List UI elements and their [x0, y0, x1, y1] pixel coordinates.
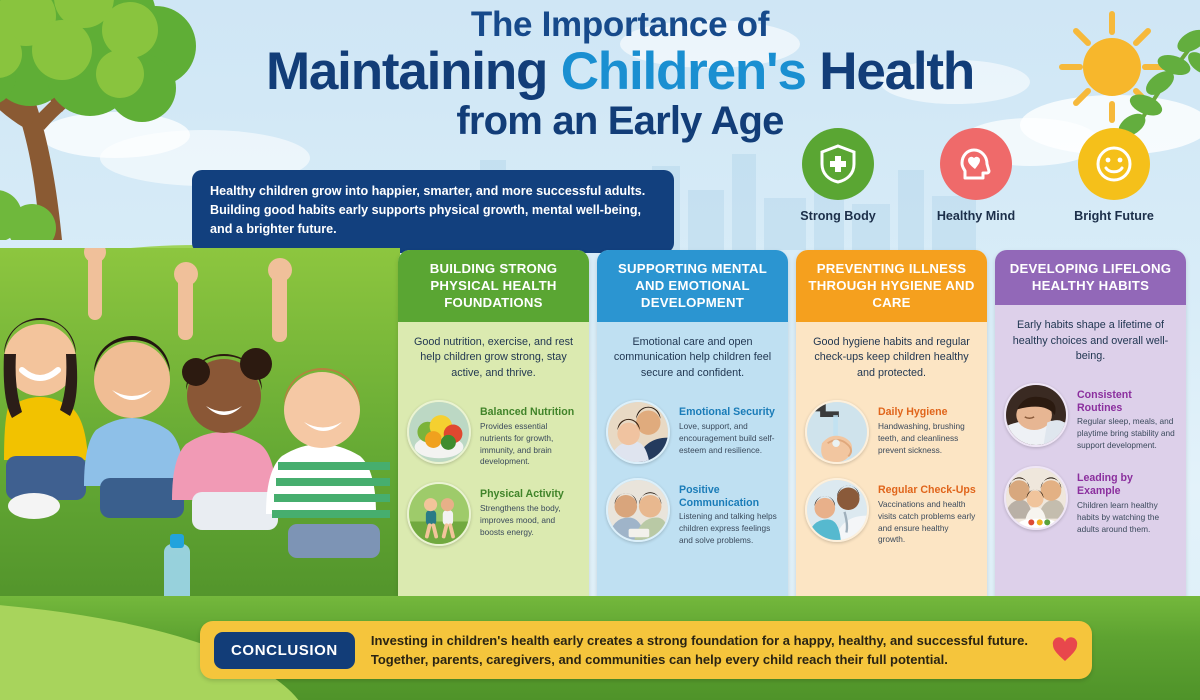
- smiley-face-icon: [1093, 143, 1135, 185]
- list-item-desc: Vaccinations and health visits catch pro…: [878, 499, 976, 547]
- list-item-desc: Listening and talking helps children exp…: [679, 511, 777, 547]
- list-item-title: Positive Communication: [679, 484, 777, 509]
- badge-label-bright-future: Bright Future: [1062, 209, 1166, 223]
- list-item-title: Daily Hygiene: [878, 406, 976, 419]
- card-hygiene-care[interactable]: PREVENTING ILLNESS THROUGH HYGIENE AND C…: [796, 250, 987, 608]
- list-item-title: Physical Activity: [480, 488, 578, 501]
- title-line-1: The Importance of: [205, 6, 1035, 44]
- list-item[interactable]: Positive Communication Listening and tal…: [597, 472, 788, 555]
- list-item[interactable]: Leading by Example Children learn health…: [995, 460, 1186, 543]
- list-item-title: Consistent Routines: [1077, 389, 1175, 414]
- list-item[interactable]: Balanced Nutrition Provides essential nu…: [398, 394, 589, 476]
- infographic-poster: The Importance of Maintaining Children's…: [0, 0, 1200, 700]
- list-item-title: Leading by Example: [1077, 472, 1175, 497]
- list-item[interactable]: Emotional Security Love, support, and en…: [597, 394, 788, 472]
- intro-text: Healthy children grow into happier, smar…: [210, 184, 645, 236]
- card-mental-emotional[interactable]: SUPPORTING MENTAL AND EMOTIONAL DEVELOPM…: [597, 250, 788, 608]
- card-intro-hygiene-care: Good hygiene habits and regular check-up…: [796, 322, 987, 394]
- list-item-text: Consistent Routines Regular sleep, meals…: [1077, 383, 1175, 452]
- shield-plus-icon: [819, 144, 857, 184]
- list-item[interactable]: Regular Check-Ups Vaccinations and healt…: [796, 472, 987, 554]
- list-item-text: Physical Activity Strengthens the body, …: [480, 482, 578, 539]
- title-line-2-highlight: Children's: [561, 42, 806, 101]
- badge-strong-body[interactable]: Strong Body: [786, 128, 890, 223]
- children-running-photo: [407, 482, 471, 546]
- page-title: The Importance of Maintaining Children's…: [205, 6, 1035, 143]
- card-intro-lifelong-habits: Early habits shape a lifetime of healthy…: [995, 305, 1186, 377]
- list-item-desc: Regular sleep, meals, and playtime bring…: [1077, 416, 1175, 452]
- title-line-2-part-a: Maintaining: [266, 42, 561, 101]
- list-item-title: Balanced Nutrition: [480, 406, 578, 419]
- pillar-card-row: BUILDING STRONG PHYSICAL HEALTH FOUNDATI…: [398, 250, 1186, 608]
- list-item-text: Leading by Example Children learn health…: [1077, 466, 1175, 535]
- heart-icon: [1052, 637, 1078, 663]
- card-lifelong-habits[interactable]: DEVELOPING LIFELONG HEALTHY HABITS Early…: [995, 250, 1186, 608]
- list-item-desc: Provides essential nutrients for growth,…: [480, 421, 578, 469]
- card-header-physical-health: BUILDING STRONG PHYSICAL HEALTH FOUNDATI…: [398, 250, 589, 322]
- card-intro-mental-emotional: Emotional care and open communication he…: [597, 322, 788, 394]
- badge-label-strong-body: Strong Body: [786, 209, 890, 223]
- card-header-hygiene-care: PREVENTING ILLNESS THROUGH HYGIENE AND C…: [796, 250, 987, 322]
- list-item-text: Daily Hygiene Handwashing, brushing teet…: [878, 400, 976, 457]
- list-item-text: Emotional Security Love, support, and en…: [679, 400, 777, 457]
- handwashing-photo: [805, 400, 869, 464]
- list-item-desc: Handwashing, brushing teeth, and cleanli…: [878, 421, 976, 457]
- title-line-2-part-b: Health: [806, 42, 974, 101]
- tree-illustration: [0, 0, 200, 240]
- head-heart-icon: [956, 144, 996, 184]
- list-item[interactable]: Physical Activity Strengthens the body, …: [398, 476, 589, 554]
- conclusion-text: Investing in children's health early cre…: [371, 631, 1036, 669]
- card-header-mental-emotional: SUPPORTING MENTAL AND EMOTIONAL DEVELOPM…: [597, 250, 788, 322]
- list-item-text: Positive Communication Listening and tal…: [679, 478, 777, 547]
- intro-callout: Healthy children grow into happier, smar…: [192, 170, 674, 253]
- list-item-title: Regular Check-Ups: [878, 484, 976, 497]
- badge-bright-future[interactable]: Bright Future: [1062, 128, 1166, 223]
- conclusion-badge: CONCLUSION: [214, 632, 355, 669]
- badge-circle-bright-future: [1078, 128, 1150, 200]
- badge-circle-strong-body: [802, 128, 874, 200]
- list-item-desc: Children learn healthy habits by watchin…: [1077, 500, 1175, 536]
- list-item-text: Regular Check-Ups Vaccinations and healt…: [878, 478, 976, 546]
- list-item[interactable]: Daily Hygiene Handwashing, brushing teet…: [796, 394, 987, 472]
- card-physical-health[interactable]: BUILDING STRONG PHYSICAL HEALTH FOUNDATI…: [398, 250, 589, 608]
- badge-row: Strong Body Healthy Mind Bright Futu: [786, 128, 1166, 223]
- sleeping-child-photo: [1004, 383, 1068, 447]
- conclusion-bar: CONCLUSION Investing in children's healt…: [200, 621, 1092, 679]
- list-item-desc: Strengthens the body, improves mood, and…: [480, 503, 578, 539]
- family-cooking-photo: [1004, 466, 1068, 530]
- card-intro-physical-health: Good nutrition, exercise, and rest help …: [398, 322, 589, 394]
- badge-label-healthy-mind: Healthy Mind: [924, 209, 1028, 223]
- list-item-text: Balanced Nutrition Provides essential nu…: [480, 400, 578, 468]
- badge-circle-healthy-mind: [940, 128, 1012, 200]
- mother-and-daughter-talking-photo: [606, 478, 670, 542]
- title-line-2: Maintaining Children's Health: [205, 44, 1035, 99]
- fruit-bowl-photo: [407, 400, 471, 464]
- list-item-desc: Love, support, and encouragement build s…: [679, 421, 777, 457]
- list-item[interactable]: Consistent Routines Regular sleep, meals…: [995, 377, 1186, 460]
- card-header-lifelong-habits: DEVELOPING LIFELONG HEALTHY HABITS: [995, 250, 1186, 305]
- father-and-child-photo: [606, 400, 670, 464]
- doctor-examining-child-photo: [805, 478, 869, 542]
- badge-healthy-mind[interactable]: Healthy Mind: [924, 128, 1028, 223]
- list-item-title: Emotional Security: [679, 406, 777, 419]
